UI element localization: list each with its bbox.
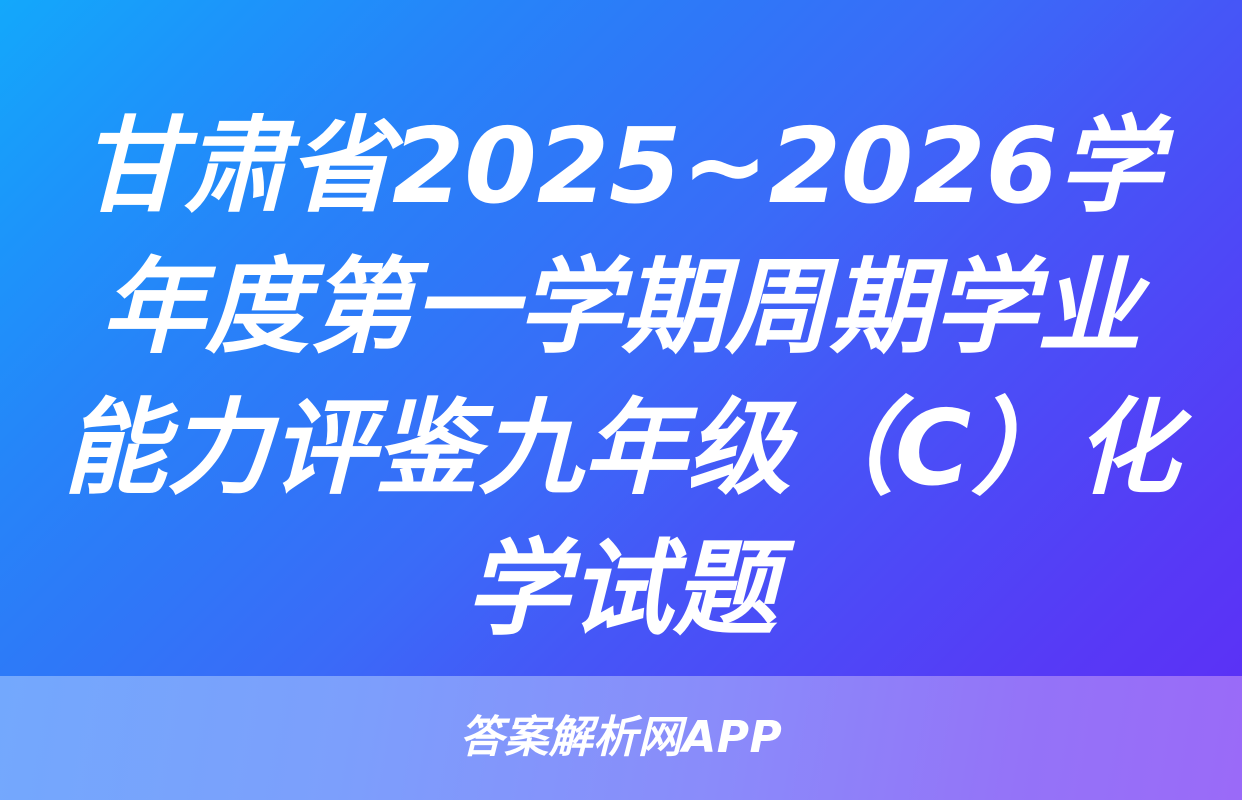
footer-watermark-band: 答案解析网APP bbox=[0, 676, 1242, 800]
page-title-text: 甘肃省2025~2026学年度第一学期周期学业能力评鉴九年级（C）化学试题 bbox=[50, 96, 1192, 660]
page-title: 甘肃省2025~2026学年度第一学期周期学业能力评鉴九年级（C）化学试题 bbox=[50, 96, 1192, 660]
poster-canvas: 甘肃省2025~2026学年度第一学期周期学业能力评鉴九年级（C）化学试题 答案… bbox=[0, 0, 1242, 800]
watermark-text: 答案解析网APP bbox=[460, 716, 783, 760]
